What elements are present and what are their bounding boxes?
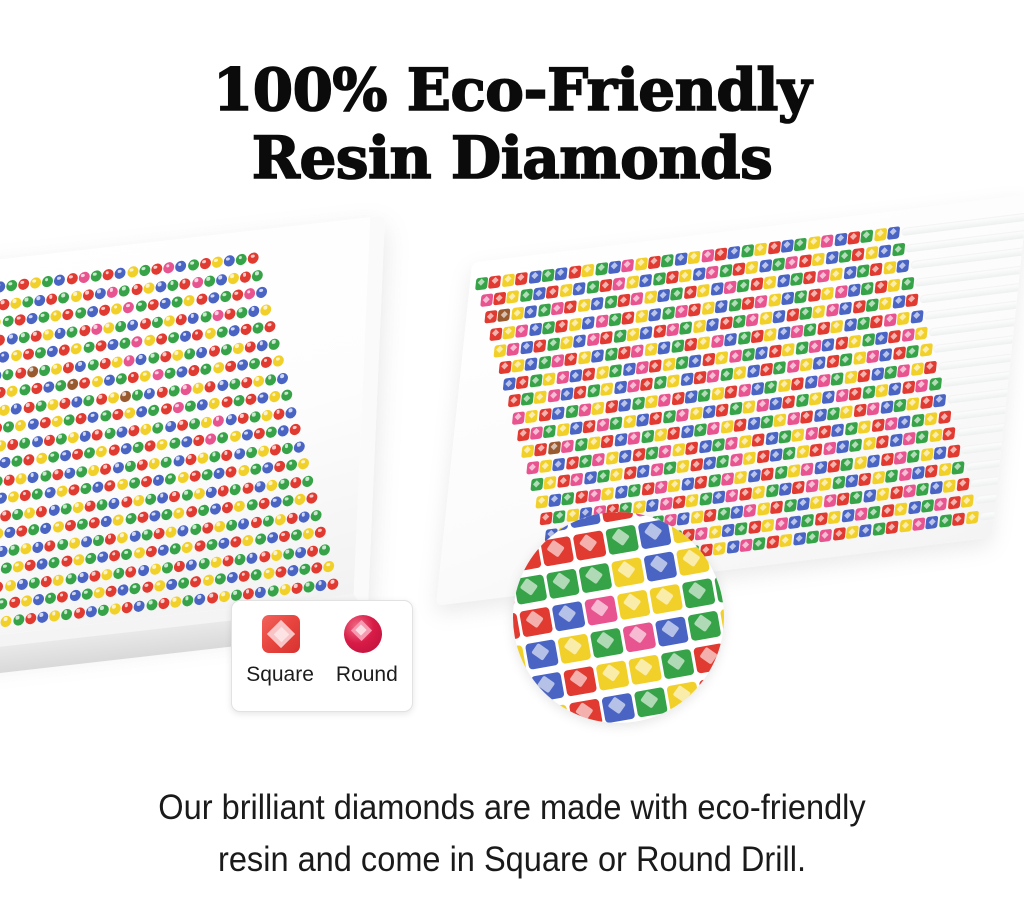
round-drill: [170, 543, 181, 555]
square-drill: [876, 487, 889, 501]
square-drill: [755, 346, 768, 360]
square-drill: [644, 343, 657, 357]
round-drill: [165, 473, 176, 485]
round-drill: [290, 476, 301, 488]
round-drill: [19, 436, 30, 448]
round-drill: [248, 252, 259, 264]
round-drill: [113, 514, 124, 526]
round-drill: [55, 380, 66, 392]
square-drill: [668, 478, 681, 492]
square-drill: [849, 439, 862, 453]
square-drill: [697, 284, 710, 298]
square-drill: [812, 253, 825, 267]
round-drill: [270, 496, 281, 508]
round-drill: [124, 407, 135, 419]
round-drill: [247, 551, 258, 563]
round-drill: [48, 451, 59, 463]
round-drill: [93, 534, 104, 546]
round-drill: [189, 417, 200, 429]
square-drill: [899, 519, 912, 533]
square-drill: [803, 271, 816, 285]
square-drill: [659, 445, 672, 459]
square-drill: [734, 418, 747, 432]
square-drill: [817, 270, 830, 284]
square-drill: [547, 337, 560, 351]
round-drill: [111, 356, 122, 368]
magnified-square-drill: [546, 568, 580, 599]
round-drill: [67, 378, 78, 390]
round-drill: [58, 291, 69, 303]
round-drill: [78, 271, 89, 283]
square-drill: [881, 504, 894, 518]
square-drill: [906, 293, 919, 307]
round-drill: [201, 416, 212, 428]
square-drill: [600, 383, 613, 397]
round-drill: [157, 491, 168, 503]
round-drill: [163, 262, 174, 274]
square-drill: [894, 503, 907, 517]
square-drill: [702, 353, 715, 367]
round-drill: [164, 367, 175, 379]
round-drill: [117, 531, 128, 543]
square-drill: [938, 463, 951, 477]
round-drill: [95, 287, 106, 299]
square-drill: [605, 451, 618, 465]
magnified-square-drill: [557, 633, 591, 664]
square-drill: [835, 388, 848, 402]
square-drill: [760, 363, 773, 377]
round-drill: [0, 422, 2, 434]
round-drill: [188, 364, 199, 376]
round-drill: [213, 467, 224, 479]
square-drill: [915, 379, 928, 393]
square-drill: [574, 386, 587, 400]
round-drill: [230, 536, 241, 548]
square-drill: [614, 433, 627, 447]
magnified-square-drill: [513, 645, 526, 676]
square-drill: [871, 419, 884, 433]
round-drill: [81, 535, 92, 547]
square-drill: [765, 484, 778, 498]
round-drill: [115, 320, 126, 332]
round-drill: [181, 488, 192, 500]
round-drill: [225, 413, 236, 425]
square-drill: [525, 357, 538, 371]
round-drill: [142, 581, 153, 593]
round-drill: [0, 562, 11, 574]
round-drill: [152, 316, 163, 328]
square-drill: [544, 476, 557, 490]
square-drill: [618, 398, 631, 412]
round-drill: [136, 353, 147, 365]
square-drill: [875, 384, 888, 398]
round-drill: [26, 312, 37, 324]
square-drill: [626, 276, 639, 290]
round-drill: [278, 477, 289, 489]
square-drill: [578, 351, 591, 365]
round-drill: [204, 327, 215, 339]
square-drill: [694, 475, 707, 489]
square-drill: [614, 381, 627, 395]
square-drill: [511, 307, 524, 321]
round-drill: [238, 517, 249, 529]
square-drill: [868, 506, 881, 520]
square-drill: [534, 443, 547, 457]
round-drill: [0, 580, 4, 592]
square-drill: [793, 532, 806, 546]
round-drill: [180, 383, 191, 395]
square-drill: [956, 478, 969, 492]
square-drill: [596, 418, 609, 432]
round-drill: [2, 315, 13, 327]
square-drill: [560, 336, 573, 350]
round-drill: [205, 380, 216, 392]
round-drill: [12, 561, 23, 573]
round-drill: [200, 310, 211, 322]
round-drill: [0, 334, 6, 346]
square-drill: [929, 429, 942, 443]
magnified-square-drill: [666, 681, 700, 712]
square-drill: [874, 228, 887, 242]
square-drill: [755, 294, 768, 308]
square-drill: [503, 377, 516, 391]
round-drill: [91, 323, 102, 335]
round-drill: [152, 369, 163, 381]
square-drill: [753, 537, 766, 551]
round-drill: [186, 506, 197, 518]
square-drill: [815, 512, 828, 526]
square-drill: [641, 482, 654, 496]
magnified-square-drill: [534, 512, 568, 534]
square-drill: [684, 286, 697, 300]
round-drill: [10, 349, 21, 361]
round-drill: [84, 500, 95, 512]
caption-line-2: resin and come in Square or Round Drill.: [36, 834, 988, 886]
round-drill: [143, 281, 154, 293]
square-drill: [632, 448, 645, 462]
round-drill: [214, 573, 225, 585]
square-drill: [542, 321, 555, 335]
round-drill: [64, 414, 75, 426]
round-drill: [105, 480, 116, 492]
round-drill: [153, 527, 164, 539]
square-drill: [689, 355, 702, 369]
round-drill: [37, 611, 48, 623]
round-drill: [205, 433, 216, 445]
round-drill: [270, 443, 281, 455]
square-drill: [565, 352, 578, 366]
round-drill: [57, 538, 68, 550]
square-drill: [599, 279, 612, 293]
round-drill: [144, 334, 155, 346]
square-drill: [714, 247, 727, 261]
round-drill: [241, 376, 252, 388]
round-drill: [250, 516, 261, 528]
square-drill: [648, 307, 661, 321]
round-drill: [182, 541, 193, 553]
square-drill: [685, 442, 698, 456]
square-drill: [742, 348, 755, 362]
square-drill: [814, 460, 827, 474]
square-drill: [939, 514, 952, 528]
magnified-square-drill: [687, 610, 721, 641]
square-drill: [570, 421, 583, 435]
square-drill: [810, 496, 823, 510]
square-drill: [498, 361, 511, 375]
square-drill: [796, 445, 809, 459]
round-drill: [282, 495, 293, 507]
square-drill: [741, 296, 754, 310]
square-drill: [779, 534, 792, 548]
square-drill: [543, 424, 556, 438]
magnified-square-drill: [540, 536, 574, 567]
round-drill: [239, 570, 250, 582]
square-drill: [498, 309, 511, 323]
square-drill: [588, 436, 601, 450]
round-drill: [8, 491, 19, 503]
magnified-square-drill: [682, 578, 716, 609]
square-drill: [947, 496, 960, 510]
round-drill: [16, 525, 27, 537]
round-drill: [298, 458, 309, 470]
square-drill: [623, 415, 636, 429]
round-drill: [51, 415, 62, 427]
round-drill: [198, 557, 209, 569]
round-drill: [204, 275, 215, 287]
square-drill: [915, 327, 928, 341]
round-drill: [25, 612, 36, 624]
square-drill: [884, 365, 897, 379]
round-drill: [29, 576, 40, 588]
round-drill: [77, 571, 88, 583]
round-drill: [44, 487, 55, 499]
square-drill: [568, 265, 581, 279]
square-drill: [533, 339, 546, 353]
round-drill: [188, 312, 199, 324]
round-drill: [281, 389, 292, 401]
round-drill: [140, 423, 151, 435]
round-drill: [208, 344, 219, 356]
round-drill: [222, 501, 233, 513]
square-drill: [764, 328, 777, 342]
round-drill: [148, 404, 159, 416]
round-drill: [31, 382, 42, 394]
square-drill: [897, 312, 910, 326]
square-drill: [582, 316, 595, 330]
round-drill: [241, 429, 252, 441]
square-drill: [846, 526, 859, 540]
headline-line-1: 100% Eco-Friendly: [0, 56, 1024, 124]
magnified-square-drill: [513, 542, 542, 573]
round-drill: [212, 309, 223, 321]
square-drill: [526, 461, 539, 475]
magnified-square-drill: [584, 595, 618, 626]
square-drill: [662, 306, 675, 320]
round-drill: [132, 441, 143, 453]
round-drill: [265, 373, 276, 385]
round-drill: [169, 490, 180, 502]
square-drill: [677, 460, 690, 474]
round-drill: [56, 485, 67, 497]
round-drill: [234, 447, 245, 459]
square-drill: [788, 516, 801, 530]
square-drill: [896, 260, 909, 274]
round-drill: [254, 427, 265, 439]
square-drill: [565, 404, 578, 418]
round-drill: [294, 440, 305, 452]
round-drill: [303, 527, 314, 539]
square-drill: [524, 305, 537, 319]
round-drill: [155, 280, 166, 292]
square-drill: [556, 371, 569, 385]
square-drill: [916, 483, 929, 497]
square-drill: [733, 314, 746, 328]
square-drill: [586, 280, 599, 294]
round-drill: [68, 431, 79, 443]
square-drill: [661, 254, 674, 268]
square-drill: [942, 427, 955, 441]
square-drill: [615, 485, 628, 499]
round-drill: [68, 484, 79, 496]
round-drill: [172, 296, 183, 308]
square-drill: [517, 428, 530, 442]
legend-label-square: Square: [246, 663, 314, 687]
round-drill: [138, 564, 149, 576]
round-drill: [197, 399, 208, 411]
square-drill: [809, 392, 822, 406]
round-drill: [172, 349, 183, 361]
round-drill: [61, 608, 72, 620]
square-drill: [672, 495, 685, 509]
round-drill: [12, 508, 23, 520]
round-drill: [70, 290, 81, 302]
round-drill: [156, 386, 167, 398]
round-drill: [77, 518, 88, 530]
square-drill: [844, 318, 857, 332]
square-drill: [801, 514, 814, 528]
square-drill: [703, 405, 716, 419]
round-drill: [299, 510, 310, 522]
round-drill: [87, 358, 98, 370]
square-drill: [551, 354, 564, 368]
square-drill: [814, 409, 827, 423]
square-drill: [699, 492, 712, 506]
magnified-square-drill: [643, 551, 677, 582]
square-drill: [783, 499, 796, 513]
round-drill: [144, 387, 155, 399]
square-drill: [579, 455, 592, 469]
round-drill: [64, 467, 75, 479]
square-drill: [559, 284, 572, 298]
round-drill: [105, 532, 116, 544]
round-drill: [209, 397, 220, 409]
round-drill: [35, 347, 46, 359]
round-drill: [149, 457, 160, 469]
round-drill: [159, 297, 170, 309]
round-drill: [69, 589, 80, 601]
round-drill: [0, 598, 8, 610]
round-drill: [328, 577, 339, 589]
round-drill: [170, 595, 181, 607]
square-drill: [525, 409, 538, 423]
square-drill: [663, 410, 676, 424]
square-drill: [617, 294, 630, 308]
square-drill: [609, 364, 622, 378]
square-drill: [582, 368, 595, 382]
square-drill: [839, 249, 852, 263]
round-drill: [32, 488, 43, 500]
round-drill: [185, 400, 196, 412]
magnified-square-drill: [670, 513, 704, 544]
square-drill: [671, 339, 684, 353]
square-drill: [720, 368, 733, 382]
round-drill: [224, 255, 235, 267]
round-drill: [133, 494, 144, 506]
round-drill: [258, 497, 269, 509]
square-drill: [557, 475, 570, 489]
round-drill: [130, 582, 141, 594]
square-drill: [889, 382, 902, 396]
round-drill: [23, 454, 34, 466]
square-drill: [622, 311, 635, 325]
magnified-square-drill: [714, 572, 724, 603]
round-drill: [249, 410, 260, 422]
round-drill: [92, 428, 103, 440]
round-drill: [89, 517, 100, 529]
square-drill: [555, 267, 568, 281]
round-drill: [254, 533, 265, 545]
square-drill: [750, 278, 763, 292]
square-drill: [728, 298, 741, 312]
square-drill: [592, 453, 605, 467]
round-drill: [175, 260, 186, 272]
square-drill: [728, 246, 741, 260]
square-drill: [726, 541, 739, 555]
round-drill: [115, 267, 126, 279]
round-drill: [89, 569, 100, 581]
square-drill: [805, 427, 818, 441]
square-drill: [575, 490, 588, 504]
round-drill: [120, 390, 131, 402]
square-drill: [686, 494, 699, 508]
square-drill: [901, 276, 914, 290]
round-drill: [139, 264, 150, 276]
round-drill: [307, 545, 318, 557]
round-drill: [71, 343, 82, 355]
round-drill: [72, 448, 83, 460]
square-drill: [600, 331, 613, 345]
square-drill: [747, 365, 760, 379]
magnified-square-drill: [599, 512, 633, 523]
round-drill: [131, 336, 142, 348]
round-drill: [118, 584, 129, 596]
square-drill: [703, 457, 716, 471]
square-drill: [556, 423, 569, 437]
round-drill: [96, 445, 107, 457]
magnifier-content: [513, 512, 724, 723]
square-drill: [738, 435, 751, 449]
square-drill: [777, 274, 790, 288]
round-drill: [146, 598, 157, 610]
square-drill: [924, 412, 937, 426]
round-drill: [0, 509, 11, 521]
round-drill: [108, 391, 119, 403]
round-drill: [198, 504, 209, 516]
round-drill: [154, 580, 165, 592]
round-drill: [80, 482, 91, 494]
round-drill: [59, 344, 70, 356]
round-drill: [212, 256, 223, 268]
